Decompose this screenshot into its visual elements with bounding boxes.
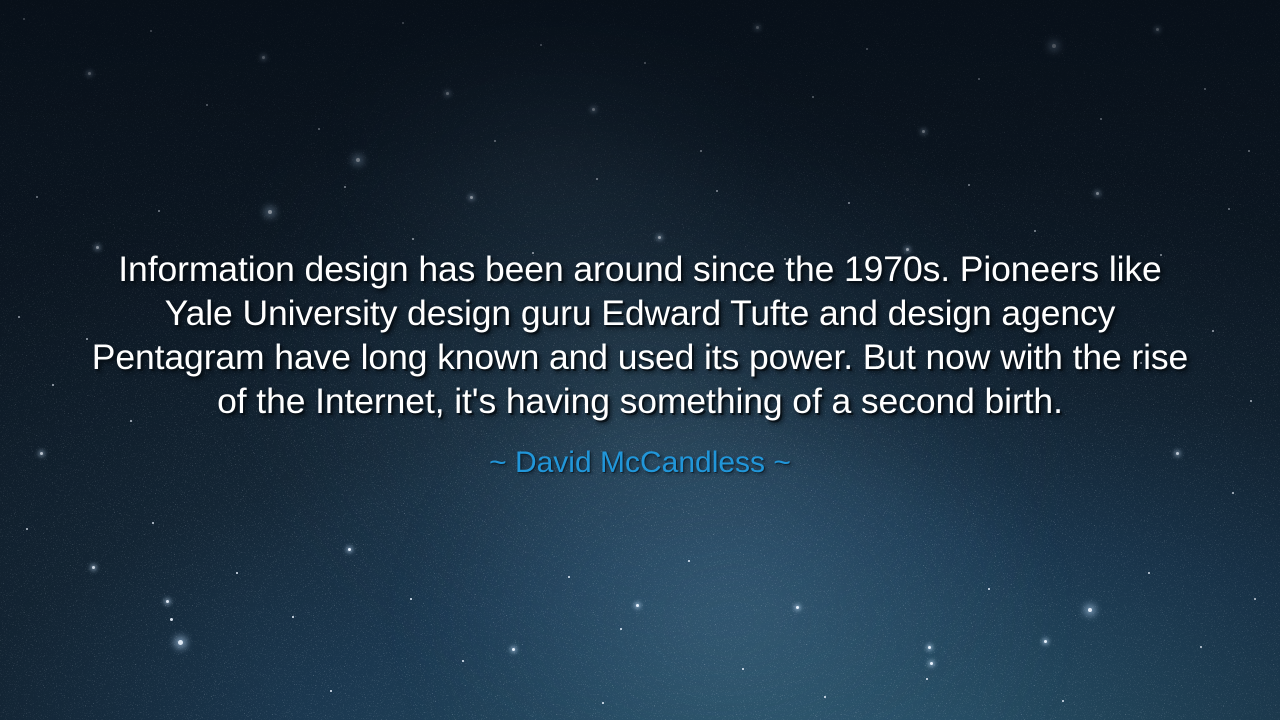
quote-text: Information design has been around since… <box>80 247 1200 423</box>
quote-attribution: ~ David McCandless ~ <box>489 445 791 481</box>
quote-wallpaper: Information design has been around since… <box>0 0 1280 720</box>
quote-block: Information design has been around since… <box>0 0 1280 720</box>
